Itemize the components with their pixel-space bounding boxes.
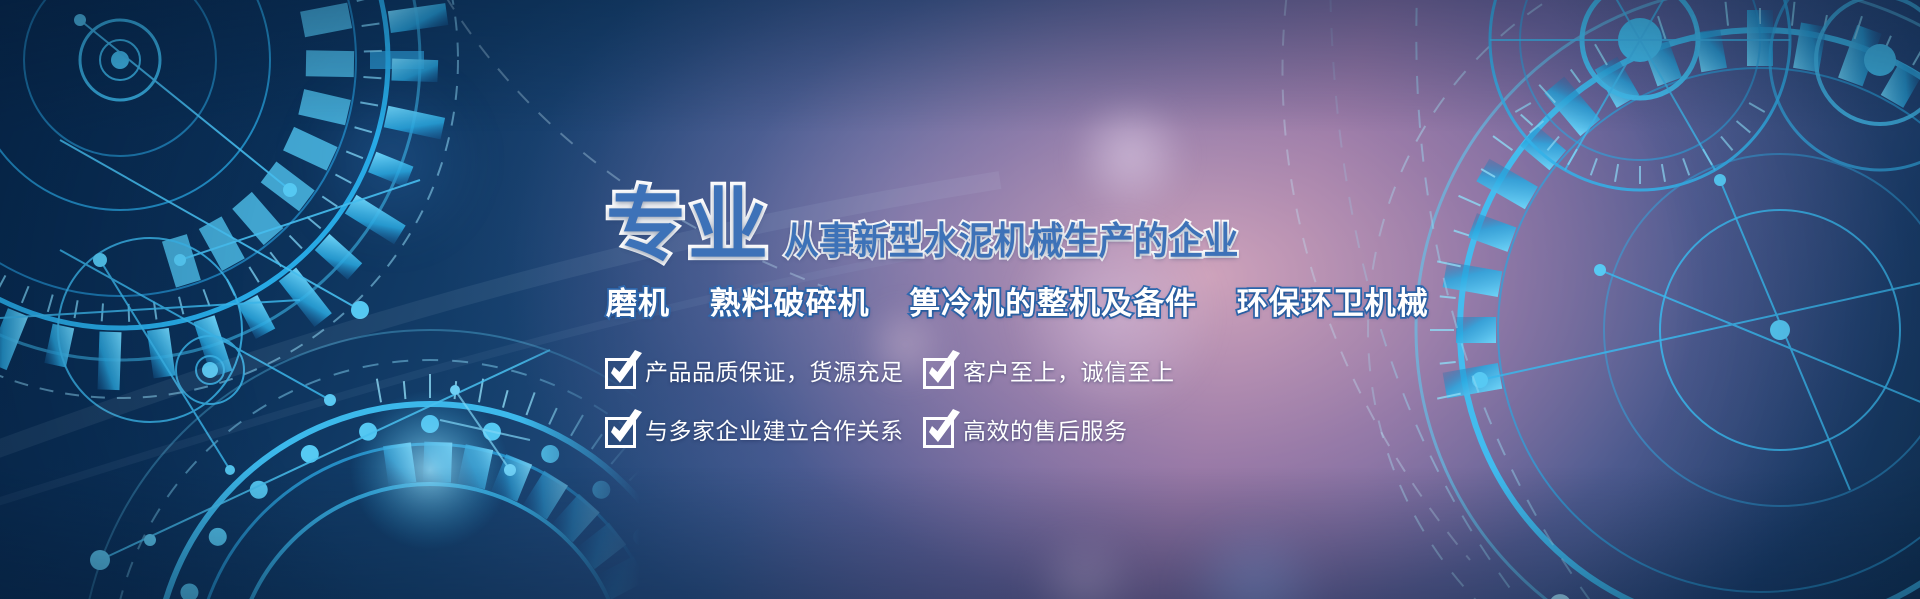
subline-item-2: 箅冷机的整机及备件 (909, 286, 1197, 322)
headline-emphasis: 专业 (606, 188, 770, 264)
checkbox-checked-icon (924, 356, 953, 385)
hero-banner: 专业 从事新型水泥机械生产的企业 磨机 熟料破碎机 箅冷机的整机及备件 环保环卫… (0, 0, 1920, 599)
subline-item-1: 熟料破碎机 (710, 286, 870, 322)
feature-list: 产品品质保证，货源充足 客户至上，诚信至上 (606, 353, 1506, 446)
feature-item: 产品品质保证，货源充足 (606, 353, 924, 387)
banner-content: 专业 从事新型水泥机械生产的企业 磨机 熟料破碎机 箅冷机的整机及备件 环保环卫… (606, 178, 1506, 446)
checkbox-checked-icon (606, 415, 635, 444)
feature-item: 高效的售后服务 (924, 412, 1506, 446)
banner-headline: 专业 从事新型水泥机械生产的企业 (606, 178, 1506, 264)
banner-subline: 磨机 熟料破碎机 箅冷机的整机及备件 环保环卫机械 (606, 278, 1506, 323)
feature-label: 客户至上，诚信至上 (963, 353, 1175, 387)
subline-item-0: 磨机 (606, 286, 670, 322)
feature-label: 高效的售后服务 (963, 412, 1128, 446)
feature-item: 客户至上，诚信至上 (924, 353, 1506, 387)
checkbox-checked-icon (606, 356, 635, 385)
feature-label: 与多家企业建立合作关系 (645, 412, 904, 446)
checkbox-checked-icon (924, 415, 953, 444)
headline-rest: 从事新型水泥机械生产的企业 (784, 222, 1238, 260)
feature-label: 产品品质保证，货源充足 (645, 353, 904, 387)
subline-item-3: 环保环卫机械 (1237, 286, 1429, 322)
feature-item: 与多家企业建立合作关系 (606, 412, 924, 446)
